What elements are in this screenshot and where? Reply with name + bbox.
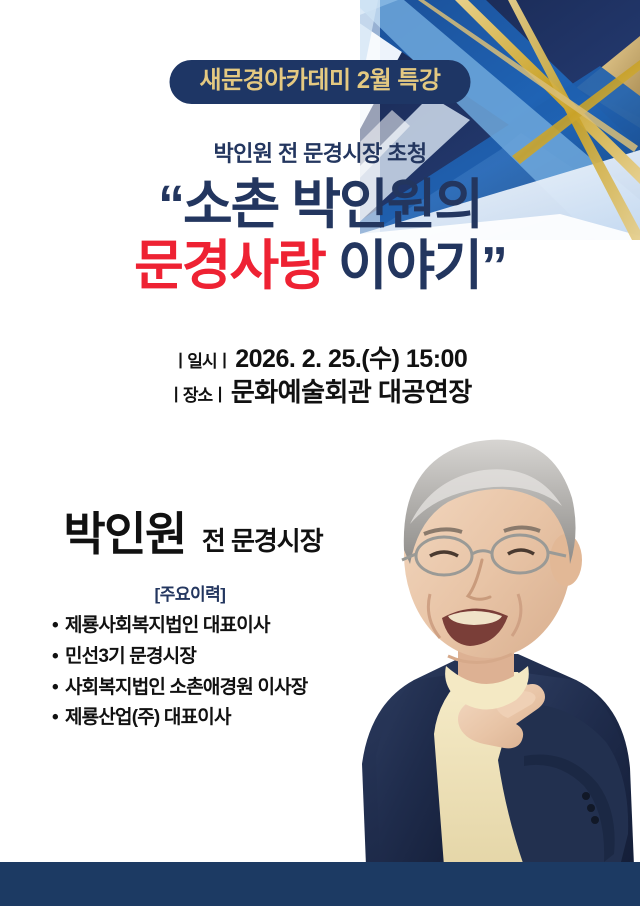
invitation-subtitle: 박인원 전 문경시장 초청	[0, 136, 640, 168]
title-accent-text: 문경사랑	[134, 236, 325, 296]
speaker-name-row: 박인원 전 문경시장	[28, 498, 358, 564]
main-title: “소촌 박인원의 문경사랑 이야기”	[0, 178, 640, 294]
header-badge: 새문경아카데미 2월 특강	[170, 60, 471, 104]
event-info: ㅣ일시ㅣ2026. 2. 25.(수) 15:00 ㅣ장소ㅣ문화예술회관 대공연…	[0, 343, 640, 409]
close-quote: ”	[481, 236, 506, 296]
title-line-1-text: 소촌 박인원의	[183, 175, 482, 235]
event-date-label: ㅣ일시ㅣ	[173, 352, 232, 371]
bio-list: 제룡사회복지법인 대표이사민선3기 문경시장사회복지법인 소촌애경원 이사장제룡…	[30, 611, 350, 734]
poster-root: 새문경아카데미 2월 특강 박인원 전 문경시장 초청 “소촌 박인원의 문경사…	[0, 0, 640, 906]
event-date-row: ㅣ일시ㅣ2026. 2. 25.(수) 15:00	[0, 343, 640, 376]
event-date-value: 2026. 2. 25.(수) 15:00	[235, 345, 467, 373]
title-line-2: 문경사랑 이야기”	[0, 239, 640, 294]
open-quote: “	[158, 175, 183, 235]
bio-list-item: 제룡사회복지법인 대표이사	[52, 611, 350, 642]
speaker-name: 박인원	[63, 498, 185, 564]
speaker-photo	[318, 404, 640, 866]
bio-list-item: 제룡산업(주) 대표이사	[52, 703, 350, 734]
speaker-role: 전 문경시장	[202, 521, 323, 558]
event-place-label: ㅣ장소ㅣ	[168, 386, 227, 405]
event-place-value: 문화예술회관 대공연장	[231, 377, 472, 407]
bio-list-item: 사회복지법인 소촌애경원 이사장	[52, 673, 350, 704]
bio-heading: [주요이력]	[30, 580, 350, 605]
header-badge-label: 새문경아카데미 2월 특강	[200, 67, 441, 94]
speaker-bio: [주요이력] 제룡사회복지법인 대표이사민선3기 문경시장사회복지법인 소촌애경…	[30, 580, 350, 734]
bottom-bar	[0, 862, 640, 906]
bio-list-item: 민선3기 문경시장	[52, 642, 350, 673]
title-line-2-text: 이야기	[338, 236, 481, 296]
title-line-1: “소촌 박인원의	[0, 178, 640, 233]
